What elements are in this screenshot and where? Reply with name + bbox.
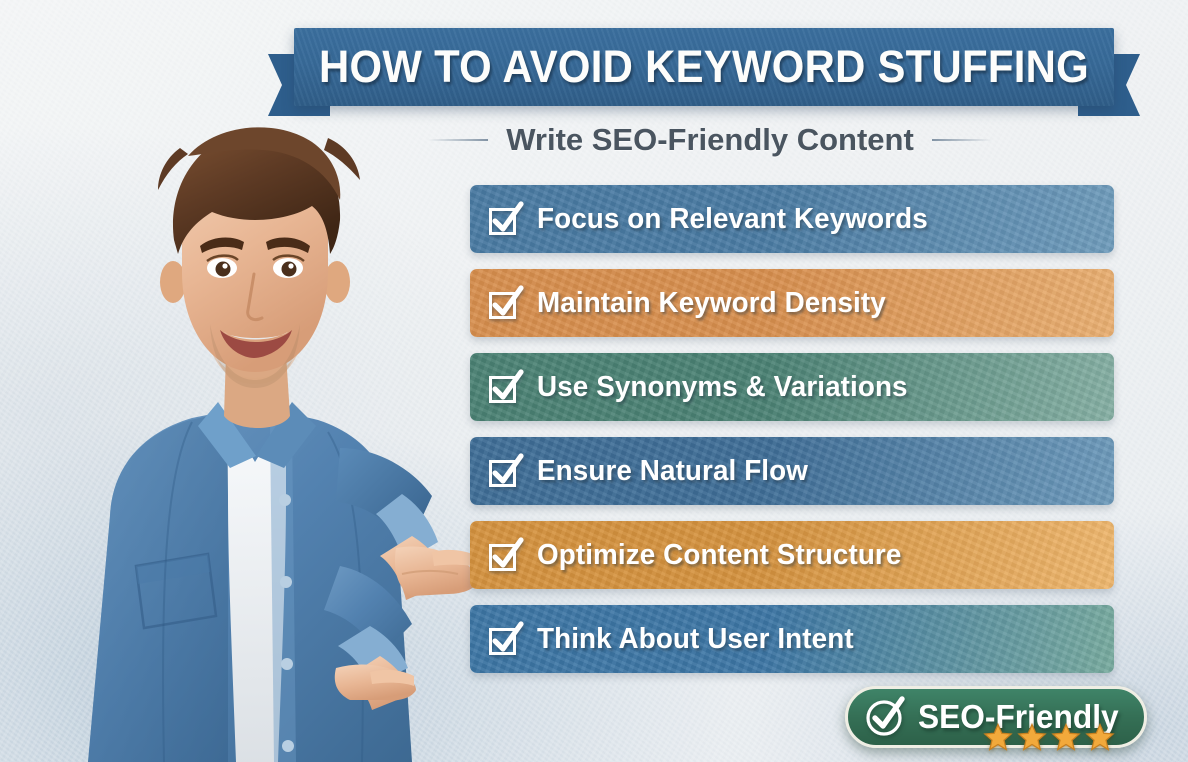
tips-list: Focus on Relevant Keywords Maintain Keyw… — [470, 185, 1114, 689]
list-item-label: Think About User Intent — [537, 623, 854, 656]
subtitle-rule-right — [932, 139, 992, 141]
list-item[interactable]: Maintain Keyword Density — [470, 269, 1114, 337]
checkbox-checked-icon — [486, 200, 524, 238]
star-icon — [1051, 722, 1081, 752]
list-item-label: Focus on Relevant Keywords — [537, 203, 928, 236]
checkbox-checked-icon — [486, 452, 524, 490]
infographic-canvas: HOW TO AVOID KEYWORD STUFFING Write SEO-… — [0, 0, 1188, 762]
subtitle-row: Write SEO-Friendly Content — [340, 118, 1080, 162]
circle-check-icon — [864, 696, 906, 738]
checkbox-checked-icon — [486, 368, 524, 406]
star-rating — [983, 722, 1115, 752]
subtitle: Write SEO-Friendly Content — [506, 122, 914, 158]
title-banner: HOW TO AVOID KEYWORD STUFFING — [268, 28, 1140, 120]
subtitle-rule-left — [428, 139, 488, 141]
ribbon-main: HOW TO AVOID KEYWORD STUFFING — [294, 28, 1114, 106]
list-item-label: Optimize Content Structure — [537, 539, 901, 572]
list-item[interactable]: Think About User Intent — [470, 605, 1114, 673]
list-item-label: Use Synonyms & Variations — [537, 371, 908, 404]
list-item-label: Ensure Natural Flow — [537, 455, 808, 488]
list-item[interactable]: Ensure Natural Flow — [470, 437, 1114, 505]
head — [158, 127, 360, 388]
checkbox-checked-icon — [486, 620, 524, 658]
list-item[interactable]: Focus on Relevant Keywords — [470, 185, 1114, 253]
checkbox-checked-icon — [486, 284, 524, 322]
page-title: HOW TO AVOID KEYWORD STUFFING — [323, 28, 1086, 106]
star-icon — [983, 722, 1013, 752]
list-item-label: Maintain Keyword Density — [537, 287, 886, 320]
star-icon — [1017, 722, 1047, 752]
star-icon — [1085, 722, 1115, 752]
person-illustration — [40, 96, 480, 762]
list-item[interactable]: Use Synonyms & Variations — [470, 353, 1114, 421]
list-item[interactable]: Optimize Content Structure — [470, 521, 1114, 589]
checkbox-checked-icon — [486, 536, 524, 574]
